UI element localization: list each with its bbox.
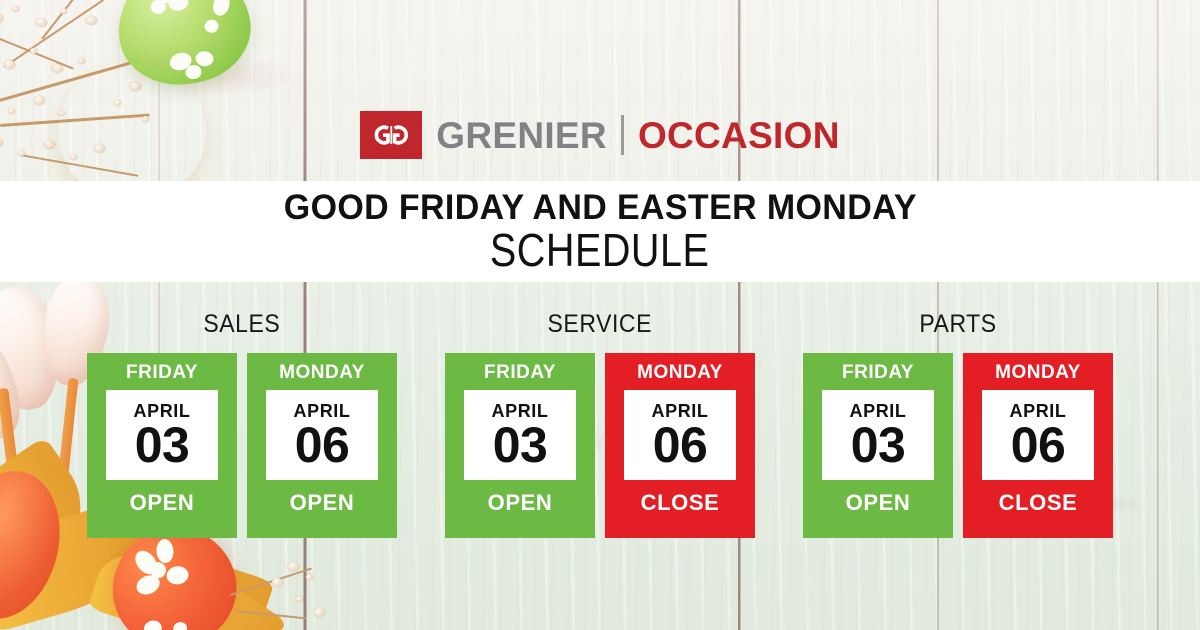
department-cards: FRIDAYAPRIL03OPENMONDAYAPRIL06CLOSE [445,353,755,538]
headline-line-2: SCHEDULE [490,227,710,274]
card-date-box: APRIL03 [106,390,218,480]
card-status-label: OPEN [846,492,911,514]
schedule-groups: SALESFRIDAYAPRIL03OPENMONDAYAPRIL06OPENS… [0,312,1200,552]
card-date-box: APRIL06 [266,390,378,480]
card-date-box: APRIL06 [982,390,1094,480]
card-weekday: FRIDAY [126,363,198,382]
card-date-box: APRIL06 [624,390,736,480]
card-status-label: OPEN [130,492,195,514]
card-status-label: CLOSE [641,492,720,514]
card-day-number: 03 [135,421,190,469]
card-weekday: MONDAY [995,363,1081,382]
department-title: SALES [204,312,281,337]
brand-logo: GRENIER OCCASION [0,106,1200,164]
department-cards: FRIDAYAPRIL03OPENMONDAYAPRIL06OPEN [87,353,397,538]
card-weekday: FRIDAY [484,363,556,382]
card-day-number: 06 [295,421,350,469]
schedule-card: MONDAYAPRIL06OPEN [247,353,397,538]
card-status-label: OPEN [290,492,355,514]
department-title: PARTS [919,312,996,337]
department-cards: FRIDAYAPRIL03OPENMONDAYAPRIL06CLOSE [803,353,1113,538]
poster-canvas: GRENIER OCCASION GOOD FRIDAY AND EASTER … [0,0,1200,630]
schedule-card: MONDAYAPRIL06CLOSE [963,353,1113,538]
grenier-logo-mark [360,111,422,159]
schedule-card: MONDAYAPRIL06CLOSE [605,353,755,538]
brand-divider [621,115,624,155]
card-date-box: APRIL03 [822,390,934,480]
card-weekday: FRIDAY [842,363,914,382]
card-date-box: APRIL03 [464,390,576,480]
card-day-number: 06 [1011,421,1066,469]
headline-band: GOOD FRIDAY AND EASTER MONDAY SCHEDULE [0,181,1200,282]
card-day-number: 03 [493,421,548,469]
department-group: SALESFRIDAYAPRIL03OPENMONDAYAPRIL06OPEN [87,312,397,552]
schedule-card: FRIDAYAPRIL03OPEN [445,353,595,538]
card-status-label: OPEN [488,492,553,514]
headline-line-1: GOOD FRIDAY AND EASTER MONDAY [283,189,916,226]
card-day-number: 03 [851,421,906,469]
card-status-label: CLOSE [999,492,1078,514]
schedule-card: FRIDAYAPRIL03OPEN [87,353,237,538]
department-group: SERVICEFRIDAYAPRIL03OPENMONDAYAPRIL06CLO… [445,312,755,552]
department-group: PARTSFRIDAYAPRIL03OPENMONDAYAPRIL06CLOSE [803,312,1113,552]
schedule-card: FRIDAYAPRIL03OPEN [803,353,953,538]
card-weekday: MONDAY [279,363,365,382]
brand-name-secondary: OCCASION [638,117,840,154]
department-title: SERVICE [548,312,652,337]
card-weekday: MONDAY [637,363,723,382]
brand-name-primary: GRENIER [436,117,607,154]
card-day-number: 06 [653,421,708,469]
